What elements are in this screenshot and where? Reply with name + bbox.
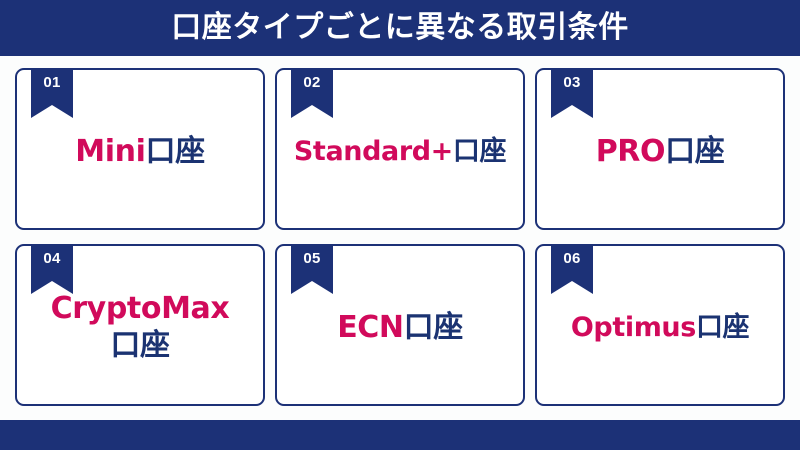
card-label-jp: 口座 <box>665 134 724 169</box>
footer-band <box>0 420 800 450</box>
card-label-en: CryptoMax <box>51 291 230 328</box>
ribbon-badge-icon: 03 <box>551 68 593 118</box>
card-label: Optimus口座 <box>561 312 759 345</box>
badge-number: 05 <box>303 251 320 266</box>
slide-root: 口座タイプごとに異なる取引条件 01 Mini口座 02 Standard+口座… <box>0 0 800 450</box>
card-label-jp: 口座 <box>51 328 230 365</box>
account-type-card-grid: 01 Mini口座 02 Standard+口座 03 PRO口座 <box>15 68 785 406</box>
account-type-card[interactable]: 06 Optimus口座 <box>535 244 785 406</box>
account-type-card[interactable]: 03 PRO口座 <box>535 68 785 230</box>
card-label-jp: 口座 <box>145 134 204 169</box>
badge-number: 06 <box>563 251 580 266</box>
header-band: 口座タイプごとに異なる取引条件 <box>0 0 800 56</box>
card-label-jp: 口座 <box>453 136 506 167</box>
account-type-card[interactable]: 02 Standard+口座 <box>275 68 525 230</box>
card-label-jp: 口座 <box>696 312 749 343</box>
ribbon-badge-icon: 02 <box>291 68 333 118</box>
ribbon-badge-icon: 05 <box>291 244 333 294</box>
card-label-en: Standard+ <box>294 136 453 167</box>
badge-number: 01 <box>43 75 60 90</box>
ribbon-badge-icon: 04 <box>31 244 73 294</box>
badge-number: 02 <box>303 75 320 90</box>
badge-number: 03 <box>563 75 580 90</box>
account-type-card[interactable]: 01 Mini口座 <box>15 68 265 230</box>
ribbon-badge-icon: 01 <box>31 68 73 118</box>
account-type-card[interactable]: 04 CryptoMax口座 <box>15 244 265 406</box>
page-title: 口座タイプごとに異なる取引条件 <box>171 13 629 43</box>
card-label: ECN口座 <box>327 310 473 347</box>
card-label-en: PRO <box>596 134 665 169</box>
card-label: PRO口座 <box>586 134 735 171</box>
card-label-en: Mini <box>75 134 145 169</box>
account-type-card[interactable]: 05 ECN口座 <box>275 244 525 406</box>
card-label: Mini口座 <box>65 134 214 171</box>
card-label-en: ECN <box>337 310 403 345</box>
card-label: CryptoMax口座 <box>41 291 240 364</box>
badge-number: 04 <box>43 251 60 266</box>
card-label-jp: 口座 <box>404 310 463 345</box>
ribbon-badge-icon: 06 <box>551 244 593 294</box>
card-label-en: Optimus <box>571 312 696 343</box>
card-label: Standard+口座 <box>284 136 516 169</box>
